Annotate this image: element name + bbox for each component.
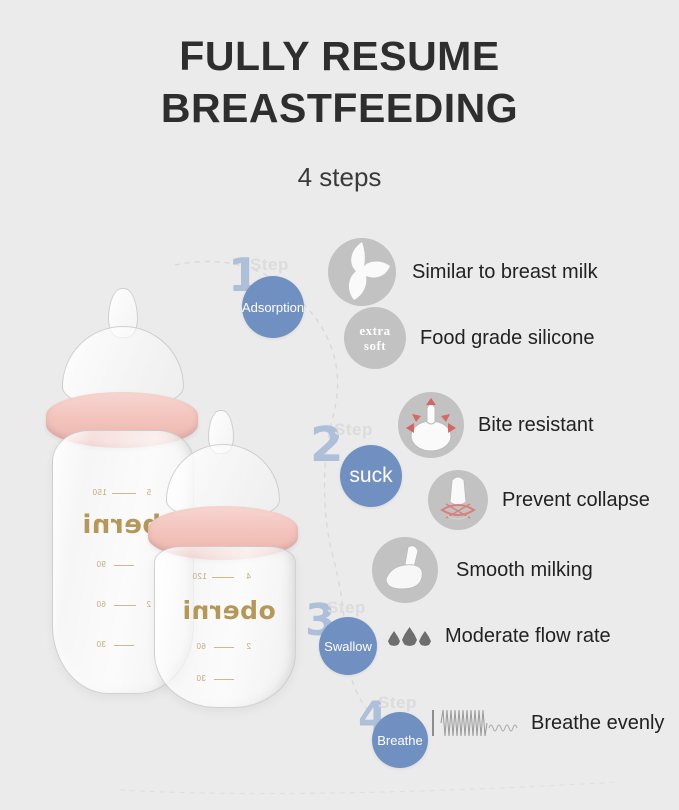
feature-label-2: Food grade silicone	[420, 327, 595, 350]
graduation-30: 30	[96, 640, 106, 649]
feature-label-6: Moderate flow rate	[445, 625, 611, 648]
step-1-ghost-label: Step	[250, 256, 289, 273]
step-3-bubble[interactable]: Swallow	[319, 617, 377, 675]
page-title-line1: FULLY RESUME	[0, 30, 679, 82]
nipple-tilted-icon	[372, 537, 438, 603]
step-2-label: suck	[349, 464, 392, 488]
feature-label-3: Bite resistant	[478, 414, 594, 437]
graduation-120: 120	[192, 572, 207, 581]
step-4-ghost-label: Step	[378, 694, 417, 711]
product-photo: 150 5 oberni 90 60 2 30 120 4 oberni 60 …	[8, 270, 318, 780]
step-2-bubble[interactable]: suck	[340, 445, 402, 507]
feature-breathe-evenly: Breathe evenly	[432, 706, 664, 740]
water-drop-small	[388, 631, 400, 646]
extra-soft-badge-text: extra soft	[344, 307, 406, 369]
feature-food-grade-silicone: extra soft Food grade silicone	[344, 307, 595, 369]
brand-logo-small: oberni	[182, 596, 276, 625]
water-drop-small	[419, 631, 431, 646]
feature-label-1: Similar to breast milk	[412, 261, 598, 284]
waveform-divider	[432, 710, 434, 736]
breathing-waveform-icon	[432, 706, 519, 740]
feature-label-7: Breathe evenly	[531, 712, 664, 735]
header: FULLY RESUME BREASTFEEDING 4 steps	[0, 30, 679, 193]
feature-similar-to-breast-milk: Similar to breast milk	[328, 238, 598, 306]
step-3-ghost-label: Step	[327, 599, 366, 616]
graduation-tick	[212, 577, 234, 578]
graduation-scale-4: 4	[246, 572, 251, 581]
nipple-expand-arrows-icon	[398, 392, 464, 458]
water-drop-large	[402, 627, 417, 646]
step-1-bubble[interactable]: Adsorption	[242, 276, 304, 338]
graduation-scale-2: 2	[246, 642, 251, 651]
nipple-cross-section-icon	[328, 238, 396, 306]
page-title-line2: BREASTFEEDING	[0, 82, 679, 134]
nipple-anti-collapse-icon	[428, 470, 488, 530]
extra-soft-line2: soft	[364, 338, 386, 353]
graduation-tick	[214, 679, 234, 680]
water-drops-icon	[388, 627, 431, 646]
feature-label-4: Prevent collapse	[502, 489, 650, 512]
bottle-small: 120 4 oberni 60 2 30	[120, 410, 295, 760]
graduation-30: 30	[196, 674, 206, 683]
extra-soft-line1: extra	[359, 323, 390, 338]
graduation-tick	[214, 647, 234, 648]
step-2-ghost-label: Step	[334, 421, 373, 438]
extra-soft-badge-icon: extra soft	[344, 307, 406, 369]
graduation-60: 60	[96, 600, 106, 609]
graduation-60: 60	[196, 642, 206, 651]
graduation-150: 150	[92, 488, 107, 497]
graduation-90: 90	[96, 560, 106, 569]
infographic-root: FULLY RESUME BREASTFEEDING 4 steps 150 5…	[0, 0, 679, 810]
feature-smooth-milking: Smooth milking	[372, 537, 593, 603]
bottle-body-small	[154, 546, 296, 708]
step-3-label: Swallow	[324, 639, 372, 654]
page-subtitle: 4 steps	[0, 162, 679, 193]
step-4-bubble[interactable]: Breathe	[372, 712, 428, 768]
step-1-label: Adsorption	[242, 300, 304, 315]
feature-label-5: Smooth milking	[456, 559, 593, 582]
feature-prevent-collapse: Prevent collapse	[428, 470, 650, 530]
feature-moderate-flow-rate: Moderate flow rate	[388, 625, 611, 648]
feature-bite-resistant: Bite resistant	[398, 392, 594, 458]
step-4-label: Breathe	[377, 733, 423, 748]
